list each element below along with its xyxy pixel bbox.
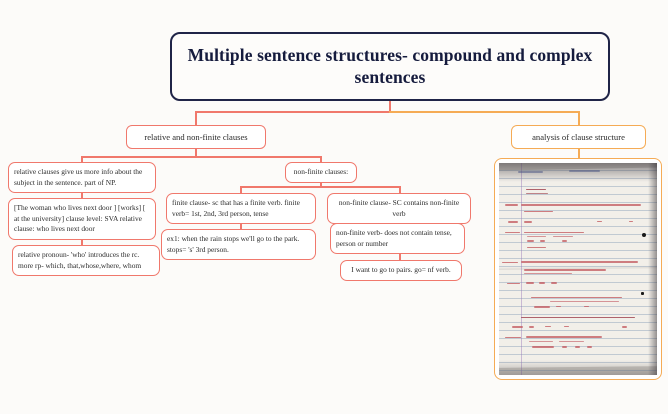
connector-title-to-right-branch	[389, 111, 579, 113]
connector-to-finite-clause-definition	[240, 186, 242, 193]
node-relative-clause-example[interactable]: [The woman who lives next door ] [works]…	[8, 198, 156, 240]
node-non-finite-clause-definition[interactable]: non-finite clause- SC contains non-finit…	[327, 193, 471, 224]
connector-non-finite-bar	[240, 186, 400, 188]
margin-line	[521, 163, 522, 375]
page-title: Multiple sentence structures- compound a…	[170, 32, 610, 101]
connector-right-branch-drop	[578, 111, 580, 125]
photo-bottom-shadow	[499, 360, 657, 375]
connector-left-branch-bar	[81, 156, 321, 158]
node-non-finite-clauses-header[interactable]: non-finite clauses:	[285, 162, 357, 183]
connector-title-to-left-branch	[195, 111, 390, 113]
branch-analysis-of-clause-structure[interactable]: analysis of clause structure	[511, 125, 646, 149]
node-non-finite-verb-definition[interactable]: non-finite verb- does not contain tense,…	[330, 223, 465, 254]
mindmap-canvas: Multiple sentence structures- compound a…	[0, 0, 668, 414]
node-non-finite-verb-example[interactable]: I want to go to pairs. go= nf verb.	[340, 260, 462, 281]
node-finite-clause-example[interactable]: ex1: when the rain stops we'll go to the…	[161, 229, 316, 260]
node-relative-clauses-definition[interactable]: relative clauses give us more info about…	[8, 162, 156, 193]
photo-top-shadow	[499, 163, 657, 182]
handwritten-notes-photo	[499, 163, 657, 375]
hole-punch-mark	[642, 233, 646, 237]
node-finite-clause-definition[interactable]: finite clause- sc that has a finite verb…	[166, 193, 316, 224]
branch-relative-and-non-finite-clauses[interactable]: relative and non-finite clauses	[126, 125, 266, 149]
connector-to-non-finite-clause-definition	[399, 186, 401, 193]
connector-left-branch-drop	[195, 111, 197, 125]
photo-right-shadow	[648, 163, 657, 375]
node-relative-pronoun-note[interactable]: relative pronoun- 'who' introduces the r…	[12, 245, 160, 276]
handwritten-notes-photo-card[interactable]	[494, 158, 662, 380]
